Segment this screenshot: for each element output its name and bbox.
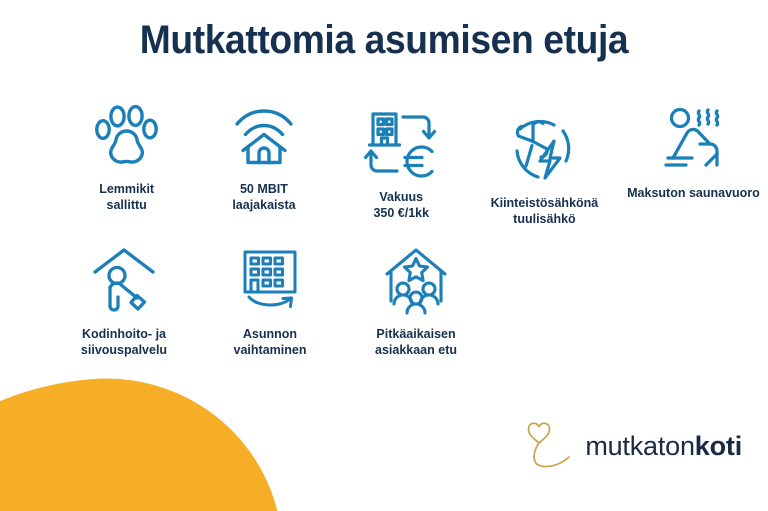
benefit-label: Pitkäaikaisen asiakkaan etu	[375, 326, 457, 358]
benefit-label: Asunnon vaihtaminen	[234, 326, 307, 358]
benefit-label: Vakuus 350 €/1kk	[373, 189, 429, 221]
wind-turbine-bolt-icon	[506, 110, 582, 188]
benefits-row-two: Kodinhoito- ja siivouspalvelu	[0, 241, 768, 358]
benefit-item-pets: Lemmikit sallittu	[58, 96, 195, 213]
decorative-orange-blob	[0, 367, 289, 511]
benefit-item-cleaning: Kodinhoito- ja siivouspalvelu	[48, 241, 200, 358]
paw-print-icon	[90, 96, 164, 174]
benefit-item-deposit: Vakuus 350 €/1kk	[333, 104, 470, 221]
benefit-label: Kodinhoito- ja siivouspalvelu	[81, 326, 167, 358]
benefit-label: 50 MBIT laajakaista	[232, 181, 295, 213]
roof-person-mop-icon	[86, 241, 162, 319]
benefit-item-broadband: 50 MBIT laajakaista	[195, 96, 332, 213]
sauna-person-steam-icon	[654, 100, 732, 178]
benefit-label: Maksuton saunavuoro	[627, 185, 760, 201]
heart-swoosh-icon	[521, 418, 577, 475]
benefit-item-loyalty: Pitkäaikaisen asiakkaan etu	[340, 241, 492, 358]
logo-wordmark: mutkatonkoti	[585, 431, 742, 462]
wifi-house-icon	[227, 96, 301, 174]
benefit-item-apartment-swap: Asunnon vaihtaminen	[200, 241, 340, 358]
logo-text-light: mutkaton	[585, 431, 694, 461]
slide-canvas: Mutkattomia asumisen etuja Lemmikit sall…	[0, 0, 768, 511]
page-title: Mutkattomia asumisen etuja	[27, 18, 741, 63]
benefit-label: Kiinteistösähkönä tuulisähkö	[491, 195, 599, 227]
benefits-grid: Lemmikit sallittu 50 MBIT laajakaista	[0, 96, 768, 358]
benefit-item-sauna: Maksuton saunavuoro	[619, 100, 768, 201]
benefit-item-windpower: Kiinteistösähkönä tuulisähkö	[470, 110, 619, 227]
benefit-label: Lemmikit sallittu	[99, 181, 154, 213]
house-star-people-icon	[378, 241, 454, 319]
building-euro-exchange-icon	[363, 104, 439, 182]
brand-logo[interactable]: mutkatonkoti	[521, 418, 742, 475]
apartment-swap-arrow-icon	[233, 241, 307, 319]
benefits-row-one: Lemmikit sallittu 50 MBIT laajakaista	[0, 96, 768, 227]
logo-text-bold: koti	[695, 431, 742, 461]
